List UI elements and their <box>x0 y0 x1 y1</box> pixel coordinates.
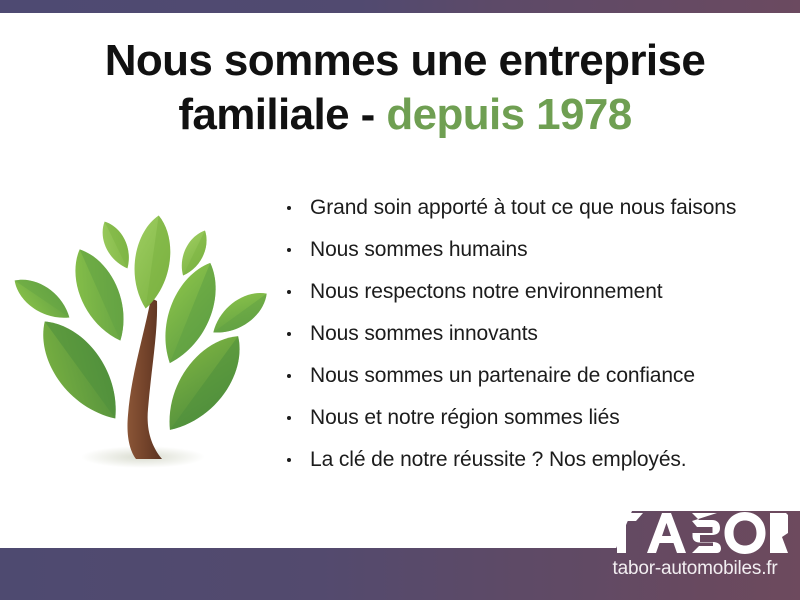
bullet-dot-icon <box>287 374 291 378</box>
list-item-label: Nous sommes un partenaire de confiance <box>310 364 695 387</box>
bullet-dot-icon <box>287 290 291 294</box>
headline-line-1: Nous sommes une entreprise <box>60 34 750 88</box>
list-item-label: Nous et notre région sommes liés <box>310 406 620 429</box>
headline-plain-part: familiale - <box>178 90 374 139</box>
value-bullet-list: Grand soin apporté à tout ce que nous fa… <box>284 192 784 486</box>
list-item-label: Nous sommes innovants <box>310 322 538 345</box>
list-item: Nous respectons notre environnement <box>284 276 784 318</box>
leaf-top-center <box>129 213 176 311</box>
list-item: Nous sommes un partenaire de confiance <box>284 360 784 402</box>
logo-tagline[interactable]: tabor-automobiles.fr <box>600 558 790 580</box>
list-item-label: Nous sommes humains <box>310 238 528 261</box>
bullet-dot-icon <box>287 416 291 420</box>
leaf-far-left <box>12 270 76 327</box>
leaf-far-right <box>206 284 274 343</box>
list-item: Grand soin apporté à tout ce que nous fa… <box>284 192 784 234</box>
list-item: Nous sommes humains <box>284 234 784 276</box>
headline-accent-part: depuis 1978 <box>386 90 631 139</box>
list-item-label: La clé de notre réussite ? Nos employés. <box>310 448 687 471</box>
tree-illustration <box>12 185 274 485</box>
slide-canvas: Nous sommes une entreprise familiale - d… <box>0 0 800 600</box>
list-item: Nous sommes innovants <box>284 318 784 360</box>
list-item-label: Nous respectons notre environnement <box>310 280 663 303</box>
bullet-dot-icon <box>287 248 291 252</box>
page-title: Nous sommes une entreprise familiale - d… <box>60 34 750 141</box>
bullet-dot-icon <box>287 458 291 462</box>
top-brand-bar <box>0 0 800 13</box>
trunk-shape <box>127 298 162 459</box>
list-item-label: Grand soin apporté à tout ce que nous fa… <box>310 196 736 219</box>
bullet-dot-icon <box>287 332 291 336</box>
tabor-logo-wordmark[interactable] <box>600 509 788 557</box>
headline-line-2: familiale - depuis 1978 <box>60 88 750 142</box>
list-item: La clé de notre réussite ? Nos employés. <box>284 444 784 486</box>
bullet-dot-icon <box>287 206 291 210</box>
list-item: Nous et notre région sommes liés <box>284 402 784 444</box>
